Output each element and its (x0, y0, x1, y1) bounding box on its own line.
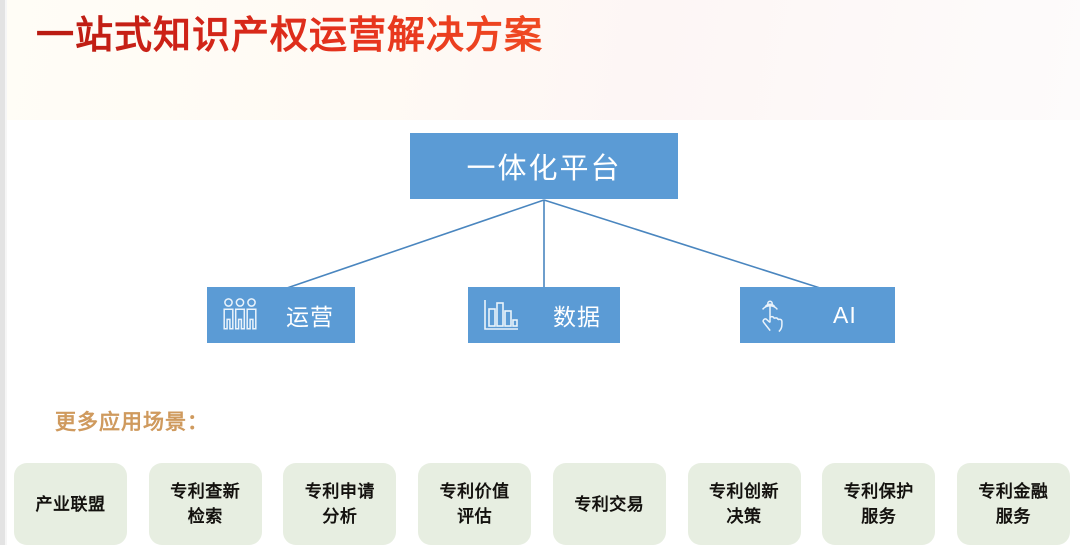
node-integrated-platform[interactable]: 一体化平台 (410, 133, 678, 199)
slide-canvas: 一站式知识产权运营解决方案 一体化平台 运营 (0, 0, 1080, 545)
scenario-chip[interactable]: 专利保护 服务 (822, 463, 935, 545)
scenario-chip-line1: 专利创新 (709, 482, 779, 501)
bar-chart-icon (481, 295, 521, 335)
node-operations-label: 运营 (286, 298, 334, 332)
scenario-chip-line2: 服务 (861, 507, 896, 526)
scenario-chip-line2: 决策 (727, 507, 762, 526)
connector-root-to-operations (287, 200, 544, 288)
scenario-chip[interactable]: 专利查新 检索 (149, 463, 262, 545)
scenario-chip-line1: 专利保护 (844, 482, 914, 501)
scenario-chip[interactable]: 专利价值 评估 (418, 463, 531, 545)
scenario-chip-line2: 分析 (322, 507, 357, 526)
scenario-chip-line1: 专利价值 (440, 482, 510, 501)
scenario-chip[interactable]: 专利金融 服务 (957, 463, 1070, 545)
scenario-chip-line1: 专利查新 (170, 482, 240, 501)
node-operations[interactable]: 运营 (207, 287, 355, 343)
node-ai[interactable]: AI (740, 287, 895, 343)
scenario-chip-line1: 专利申请 (305, 482, 375, 501)
connector-root-to-ai (544, 200, 820, 288)
scenario-chip-line1: 产业联盟 (36, 495, 106, 514)
more-scenarios-label: 更多应用场景： (55, 406, 209, 436)
scenario-chip-line1: 专利金融 (978, 482, 1048, 501)
scenario-chip[interactable]: 专利申请 分析 (283, 463, 396, 545)
node-data-label: 数据 (553, 298, 601, 332)
people-group-icon (220, 295, 260, 335)
node-integrated-platform-label: 一体化平台 (466, 145, 621, 187)
scenario-chip[interactable]: 产业联盟 (14, 463, 127, 545)
scenario-chip[interactable]: 专利创新 决策 (688, 463, 801, 545)
scenario-chip-line2: 服务 (996, 507, 1031, 526)
scenario-chip[interactable]: 专利交易 (553, 463, 666, 545)
node-ai-label: AI (833, 302, 857, 329)
scenario-chip-line2: 检索 (188, 507, 223, 526)
node-data[interactable]: 数据 (468, 287, 620, 343)
scenario-chip-row: 产业联盟 专利查新 检索 专利申请 分析 专利价值 评估 专利交易 (14, 463, 1070, 545)
scenario-chip-line2: 评估 (457, 507, 492, 526)
scenario-chip-line1: 专利交易 (574, 495, 644, 514)
touch-hand-icon (753, 295, 793, 335)
